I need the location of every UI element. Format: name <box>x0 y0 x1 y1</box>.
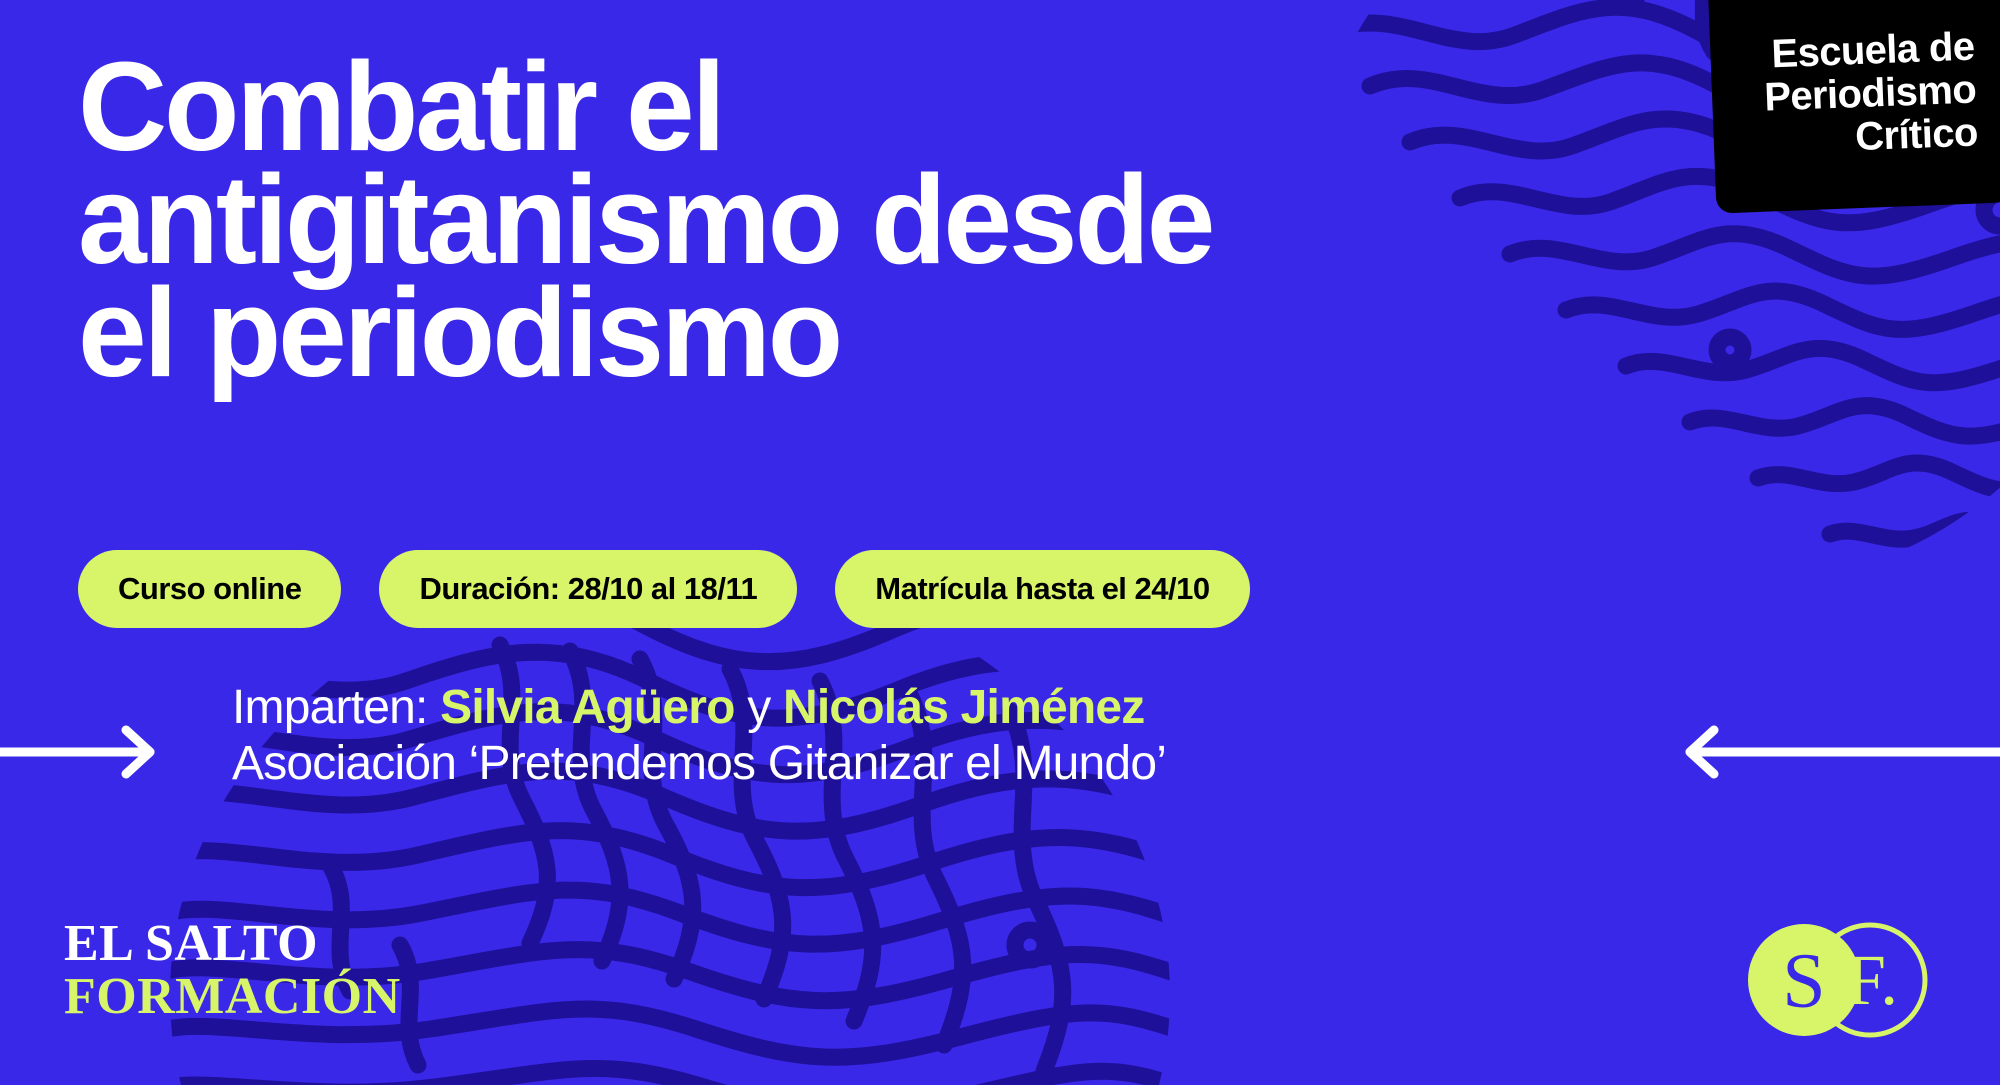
sf-monogram: S F. <box>1742 921 1942 1039</box>
brand-line-1: EL SALTO <box>64 917 401 970</box>
badge-enrollment-deadline: Matrícula hasta el 24/10 <box>835 550 1249 628</box>
sf-letter-f: F. <box>1846 940 1898 1020</box>
instructors-organization: Asociación ‘Pretendemos Gitanizar el Mun… <box>232 736 1492 792</box>
headline-line-3: el periodismo <box>78 278 1607 389</box>
sf-monogram-icon: S F. <box>1742 921 1942 1039</box>
school-badge-line-3: Crítico <box>1733 112 1978 165</box>
arrow-left-glyph <box>1680 723 2000 781</box>
headline-line-2: antigitanismo desde <box>78 165 1607 276</box>
instructor-name-1: Silvia Agüero <box>440 681 735 734</box>
brand-logo-el-salto: EL SALTO FORMACIÓN <box>64 917 401 1023</box>
instructors-block: Imparten: Silvia Agüero y Nicolás Jiméne… <box>232 680 1492 791</box>
instructors-line: Imparten: Silvia Agüero y Nicolás Jiméne… <box>232 680 1492 736</box>
school-badge: Escuela de Periodismo Crítico <box>1708 0 2000 214</box>
instructors-conjunction: y <box>735 681 783 734</box>
course-info-badges: Curso online Duración: 28/10 al 18/11 Ma… <box>78 550 1250 628</box>
arrow-right-glyph <box>0 723 160 781</box>
headline-line-1: Combatir el <box>78 52 1607 163</box>
page-title: Combatir el antigitanismo desde el perio… <box>78 52 1638 391</box>
sf-letter-s: S <box>1782 937 1825 1024</box>
brand-line-2: FORMACIÓN <box>64 970 401 1023</box>
arrow-left-icon <box>1680 723 2000 786</box>
arrow-right-icon <box>0 723 160 786</box>
instructor-name-2: Nicolás Jiménez <box>783 681 1145 734</box>
badge-course-format: Curso online <box>78 550 341 628</box>
badge-course-duration: Duración: 28/10 al 18/11 <box>379 550 797 628</box>
poster-canvas: Escuela de Periodismo Crítico Combatir e… <box>0 0 2000 1085</box>
instructors-prefix: Imparten: <box>232 681 440 734</box>
